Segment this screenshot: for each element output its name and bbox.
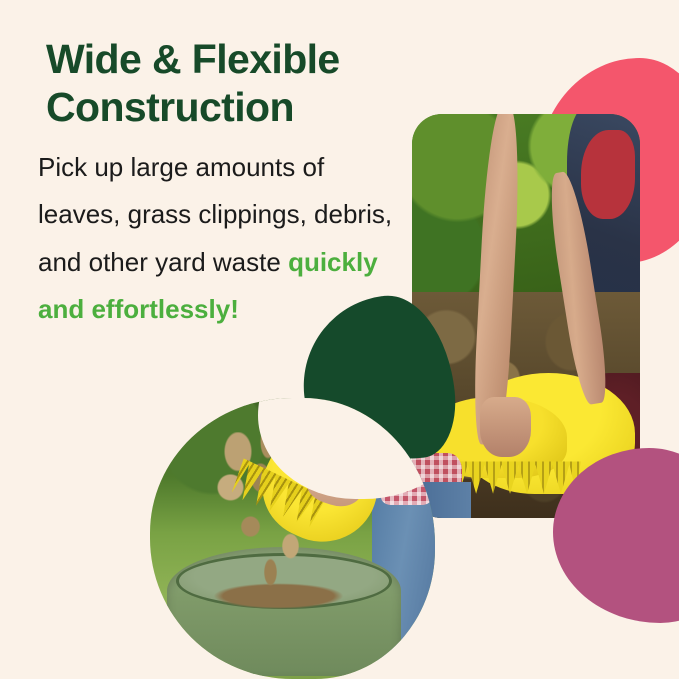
gripping-hand [480, 397, 530, 458]
body-highlight-2: effortlessly! [91, 294, 238, 324]
body-segment-1: Pick up large amounts [38, 152, 295, 182]
headline-line-2: Construction [46, 84, 396, 132]
body-copy: Pick up large amounts of leaves, grass c… [38, 144, 408, 333]
promo-graphic: Wide & Flexible Construction Pick up lar… [0, 0, 679, 679]
product-photo-dumping-leaves-into-bag [150, 398, 435, 679]
page-title: Wide & Flexible Construction [46, 36, 396, 132]
headline-line-1: Wide & Flexible [46, 36, 396, 84]
red-shirt-sleeve [581, 130, 636, 219]
body-segment-4: waste [213, 247, 288, 277]
